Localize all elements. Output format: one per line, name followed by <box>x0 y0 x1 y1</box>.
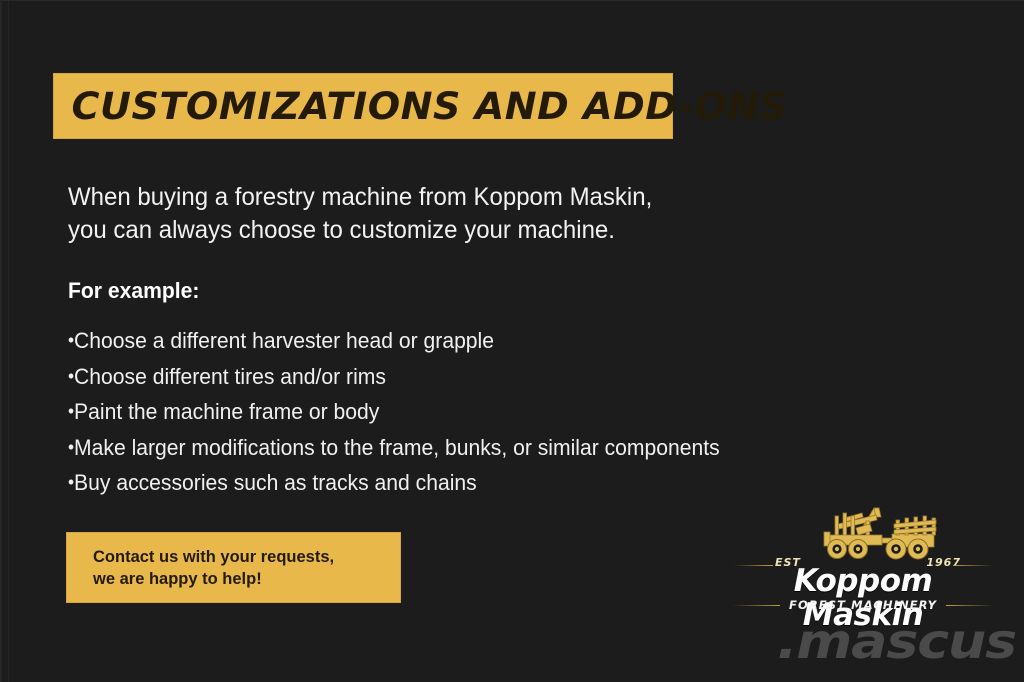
logo-tagline: FOREST MACHINERY <box>789 598 937 612</box>
list-item: •Choose different tires and/or rims <box>68 359 798 395</box>
intro-paragraph: When buying a forestry machine from Kopp… <box>68 181 740 247</box>
title-banner: CUSTOMIZATIONS AND ADD-ONS <box>54 74 672 138</box>
list-item-label: Choose different tires and/or rims <box>74 364 386 389</box>
contact-cta-box[interactable]: Contact us with your requests, we are ha… <box>67 533 400 602</box>
slide-canvas: CUSTOMIZATIONS AND ADD-ONS When buying a… <box>0 0 1024 682</box>
logo-tagline-row: FOREST MACHINERY <box>729 598 997 612</box>
contact-cta-line-2: we are happy to help! <box>93 568 400 590</box>
contact-cta-line-1: Contact us with your requests, <box>93 546 400 568</box>
tagline-divider-left <box>732 605 780 606</box>
forwarder-machine-icon <box>778 504 948 562</box>
for-example-label: For example: <box>68 278 199 304</box>
intro-line-1: When buying a forestry machine from Kopp… <box>68 181 740 214</box>
list-item: •Buy accessories such as tracks and chai… <box>68 465 798 501</box>
intro-line-2: you can always choose to customize your … <box>68 214 740 247</box>
list-item-label: Choose a different harvester head or gra… <box>74 328 494 353</box>
list-item: •Choose a different harvester head or gr… <box>68 323 798 359</box>
list-item: •Paint the machine frame or body <box>68 394 798 430</box>
koppom-maskin-logo: EST 1967 Koppom Maskin FOREST MACHINERY <box>729 504 997 616</box>
list-item: •Make larger modifications to the frame,… <box>68 430 798 466</box>
tagline-divider-right <box>946 605 994 606</box>
mascus-watermark: .mascus <box>723 617 1016 667</box>
list-item-label: Make larger modifications to the frame, … <box>74 435 720 460</box>
list-item-label: Buy accessories such as tracks and chain… <box>74 470 477 495</box>
list-item-label: Paint the machine frame or body <box>74 399 379 424</box>
page-title: CUSTOMIZATIONS AND ADD-ONS <box>54 88 788 125</box>
customization-list: •Choose a different harvester head or gr… <box>68 323 798 501</box>
